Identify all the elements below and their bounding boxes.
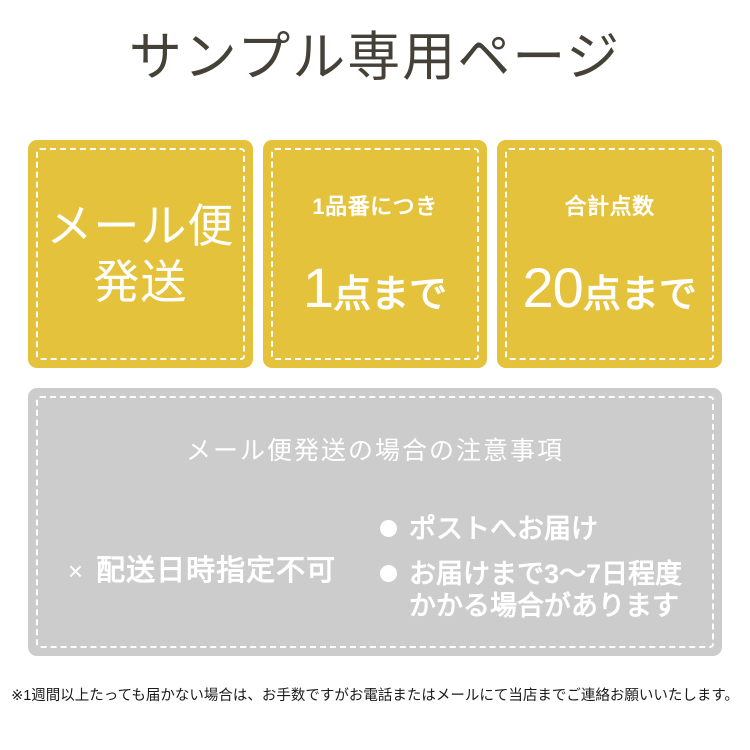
footer-note: ※1週間以上たっても届かない場合は、お手数ですがお電話またはメールにて当店までご… xyxy=(0,684,750,705)
delivery-time-restriction: ×配送日時指定不可 xyxy=(28,547,376,589)
bullet-line1: ポストへお届け xyxy=(409,514,598,544)
per-item-limit-content: 1品番につき 1点まで xyxy=(263,189,488,320)
notice-body: ×配送日時指定不可 ポストへお届け お届けまで3〜7日程度 かかる場合があります xyxy=(28,498,722,638)
per-item-caption: 1品番につき xyxy=(263,189,488,221)
cross-icon: × xyxy=(68,556,84,586)
bullet-dot-icon xyxy=(380,520,397,537)
per-item-value: 1点まで xyxy=(263,255,488,320)
shipping-method-line2: 発送 xyxy=(28,254,253,310)
feature-box-shipping-method: メール便 発送 xyxy=(28,140,253,368)
list-item: ポストへお届け xyxy=(380,513,722,546)
per-item-unit: 点まで xyxy=(333,274,447,316)
list-item: お届けまで3〜7日程度 かかる場合があります xyxy=(380,558,722,624)
shipping-method-content: メール便 発送 xyxy=(28,198,253,310)
bullet-text: ポストへお届け xyxy=(409,513,598,546)
total-items-caption: 合計点数 xyxy=(497,189,722,221)
delivery-time-restriction-label: 配送日時指定不可 xyxy=(96,555,336,587)
bullet-text: お届けまで3〜7日程度 かかる場合があります xyxy=(409,558,682,624)
feature-box-row: メール便 発送 1品番につき 1点まで 合計点数 20点まで xyxy=(28,140,722,368)
bullet-line2: かかる場合があります xyxy=(409,590,682,623)
notice-panel: メール便発送の場合の注意事項 ×配送日時指定不可 ポストへお届け お届けまで3〜… xyxy=(28,388,722,656)
feature-box-total-limit: 合計点数 20点まで xyxy=(497,140,722,368)
notice-bullet-list: ポストへお届け お届けまで3〜7日程度 かかる場合があります xyxy=(376,513,722,624)
shipping-method-line1: メール便 xyxy=(28,198,253,254)
total-limit-content: 合計点数 20点まで xyxy=(497,189,722,320)
notice-heading: メール便発送の場合の注意事項 xyxy=(28,431,722,467)
sample-shipping-info-page: サンプル専用ページ メール便 発送 1品番につき 1点まで 合計点数 xyxy=(0,0,750,750)
total-items-number: 20 xyxy=(523,256,583,319)
total-items-unit: 点まで xyxy=(583,274,697,316)
per-item-number: 1 xyxy=(303,256,333,319)
feature-box-per-item-limit: 1品番につき 1点まで xyxy=(263,140,488,368)
page-title: サンプル専用ページ xyxy=(0,28,750,89)
bullet-line1: お届けまで3〜7日程度 xyxy=(409,559,682,589)
bullet-dot-icon xyxy=(380,565,397,582)
total-items-value: 20点まで xyxy=(497,255,722,320)
